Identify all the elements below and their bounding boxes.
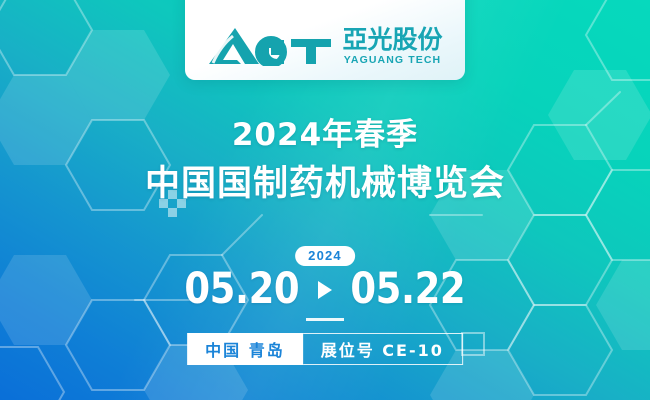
booth-number: 展位号 CE-10: [303, 333, 463, 365]
year-badge: 2024: [295, 246, 355, 266]
date-range: 05.20 05.22: [0, 268, 650, 311]
exhibition-promo-banner: 亞光股份 YAGUANG TECH 2024年春季 中国国制药机械博览会 202…: [0, 0, 650, 400]
venue-city: 中国 青岛: [187, 333, 303, 365]
date-underline-divider: [306, 318, 344, 321]
date-end: 05.22: [350, 268, 465, 311]
company-logo-card: 亞光股份 YAGUANG TECH: [185, 0, 465, 80]
headline-block: 2024年春季 中国国制药机械博览会: [0, 118, 650, 204]
agt-triangle-swoosh-icon: [207, 26, 333, 66]
date-start: 05.20: [185, 268, 300, 311]
headline-line-1: 2024年春季: [0, 118, 650, 154]
play-triangle-right-icon: [318, 281, 332, 299]
headline-line-2: 中国国制药机械博览会: [0, 164, 650, 204]
logo-company-name-en: YAGUANG TECH: [344, 55, 441, 66]
logo-company-name-cn: 亞光股份: [342, 27, 442, 52]
venue-info-bar: 中国 青岛 展位号 CE-10: [187, 333, 463, 365]
